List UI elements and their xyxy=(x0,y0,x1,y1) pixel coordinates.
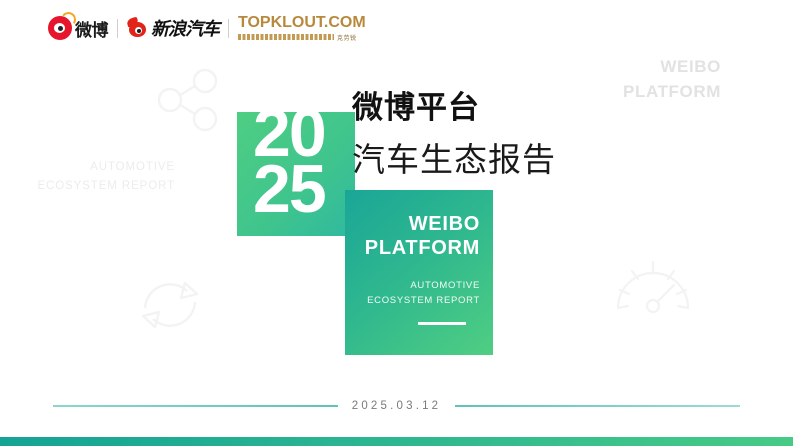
logo-topklout: TOPKLOUT.COM 克劳锐 xyxy=(238,15,366,42)
watermark-automotive-report: AUTOMOTIVE ECOSYSTEM REPORT xyxy=(10,158,175,196)
refresh-icon xyxy=(131,270,209,340)
hero-badge-title: WEIBO PLATFORM xyxy=(345,212,493,261)
footer-date-row: 2025.03.12 xyxy=(0,398,793,414)
gauge-icon xyxy=(612,258,694,320)
logo-weibo: 微博 xyxy=(48,16,108,41)
logo-sina-auto-label: 新浪汽车 xyxy=(151,15,219,41)
sina-rooster-icon xyxy=(127,18,148,38)
hero-year: 20 25 xyxy=(253,106,325,218)
page-subtitle: 汽车生态报告 xyxy=(352,133,556,181)
logo-weibo-label: 微博 xyxy=(75,16,108,41)
slide-canvas: 微博 新浪汽车 TOPKLOUT.COM 克劳锐 xyxy=(0,0,793,446)
logo-topklout-strip xyxy=(238,34,334,40)
hero-badge-subtitle: AUTOMOTIVE ECOSYSTEM REPORT xyxy=(345,278,493,309)
watermark-weibo-platform: WEIBO PLATFORM xyxy=(623,55,721,104)
logo-divider-2 xyxy=(228,19,229,38)
logo-topklout-sublabel: 克劳锐 xyxy=(337,33,357,42)
hero-badge-rule xyxy=(418,322,466,325)
logo-divider-1 xyxy=(117,19,118,38)
logo-topklout-subrow: 克劳锐 xyxy=(238,33,366,42)
logo-topklout-label: TOPKLOUT.COM xyxy=(238,15,366,31)
footer-rule-left xyxy=(53,405,338,407)
bottom-accent-bar xyxy=(0,437,793,446)
footer-rule-right xyxy=(455,405,740,407)
weibo-eye-icon xyxy=(48,16,72,40)
share-icon xyxy=(152,66,224,134)
hero-badge: WEIBO PLATFORM AUTOMOTIVE ECOSYSTEM REPO… xyxy=(345,190,493,355)
footer-date: 2025.03.12 xyxy=(352,400,442,412)
brand-logo-bar: 微博 新浪汽车 TOPKLOUT.COM 克劳锐 xyxy=(48,13,366,43)
logo-sina-auto: 新浪汽车 xyxy=(127,15,219,41)
page-title: 微博平台 xyxy=(352,82,480,127)
